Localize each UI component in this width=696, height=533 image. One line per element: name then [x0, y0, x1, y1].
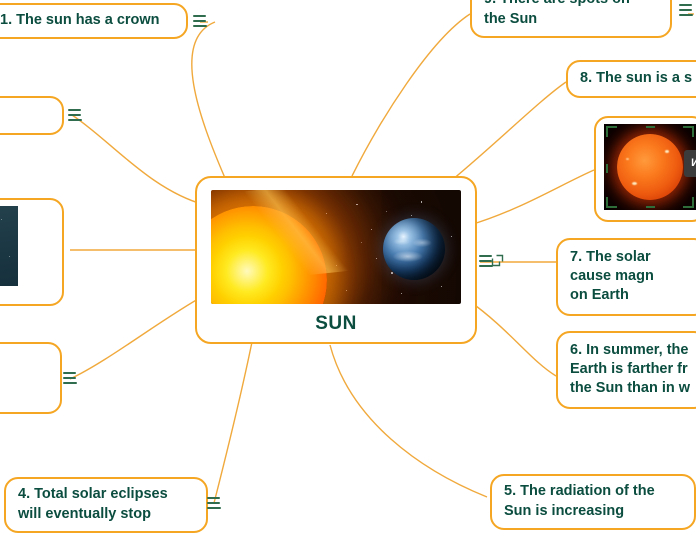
selection-handle-top-right[interactable]: [683, 126, 694, 137]
sunspot: [665, 150, 669, 153]
topic-node-5-label: 5. The radiation of the Sun is increasin…: [504, 482, 655, 520]
topic-node-3[interactable]: the n a: [0, 342, 62, 414]
topic-node-7-label: 7. The solar cause magn on Earth: [570, 248, 654, 305]
topic-node-6-label: 6. In summer, the Earth is farther fr th…: [570, 341, 690, 398]
central-node-expand-icon[interactable]: [491, 254, 504, 267]
sun-photo-image: [604, 124, 696, 210]
selection-handle-bottom-left[interactable]: [606, 197, 617, 208]
topic-node-1-label: 1. The sun has a crown: [0, 11, 160, 30]
topic-node-6[interactable]: 6. In summer, the Earth is farther fr th…: [556, 331, 696, 409]
selection-handle-bottom[interactable]: [646, 206, 655, 208]
topic-node-9[interactable]: 9. There are spots on the Sun: [470, 0, 672, 38]
topic-node-7[interactable]: 7. The solar cause magn on Earth: [556, 238, 696, 316]
topic-node-2[interactable]: ecome: [0, 96, 64, 135]
mindmap-canvas[interactable]: SUN 1. The sun has a crown ecome КТІВ:: [0, 0, 696, 520]
selection-handle-left[interactable]: [606, 164, 608, 173]
sun-flare-graphic: [233, 190, 362, 282]
topic-node-1[interactable]: 1. The sun has a crown: [0, 3, 188, 39]
central-node-title: SUN: [315, 311, 357, 336]
poster-image: КТІВ: ЩЕ: [0, 206, 18, 286]
poster-image-node[interactable]: КТІВ: ЩЕ n: [0, 198, 64, 306]
topic-node-3-menu-handle[interactable]: [63, 372, 77, 384]
selection-handle-bottom-right[interactable]: [683, 197, 694, 208]
earth-graphic: [383, 218, 445, 280]
topic-node-9-label: 9. There are spots on the Sun: [484, 0, 630, 29]
central-node-image: [211, 190, 461, 304]
topic-node-4[interactable]: 4. Total solar eclipses will eventually …: [4, 477, 208, 533]
sun-disc-graphic: [617, 134, 683, 200]
topic-node-5[interactable]: 5. The radiation of the Sun is increasin…: [490, 474, 696, 530]
topic-node-8[interactable]: 8. The sun is a s: [566, 60, 696, 98]
poster-starfield: [0, 206, 18, 286]
topic-node-9-menu-handle[interactable]: [679, 4, 693, 16]
topic-node-8-label: 8. The sun is a s: [580, 69, 692, 88]
selection-handle-top[interactable]: [646, 126, 655, 128]
sun-photo-node[interactable]: 1 И: [594, 116, 696, 222]
central-node[interactable]: SUN: [195, 176, 477, 344]
topic-node-4-label: 4. Total solar eclipses will eventually …: [18, 485, 168, 523]
topic-node-4-menu-handle[interactable]: [207, 497, 221, 509]
topic-node-1-menu-handle[interactable]: [193, 15, 207, 27]
selection-handle-top-left[interactable]: [606, 126, 617, 137]
topic-node-2-menu-handle[interactable]: [68, 109, 82, 121]
image-tooltip: И: [684, 150, 696, 177]
